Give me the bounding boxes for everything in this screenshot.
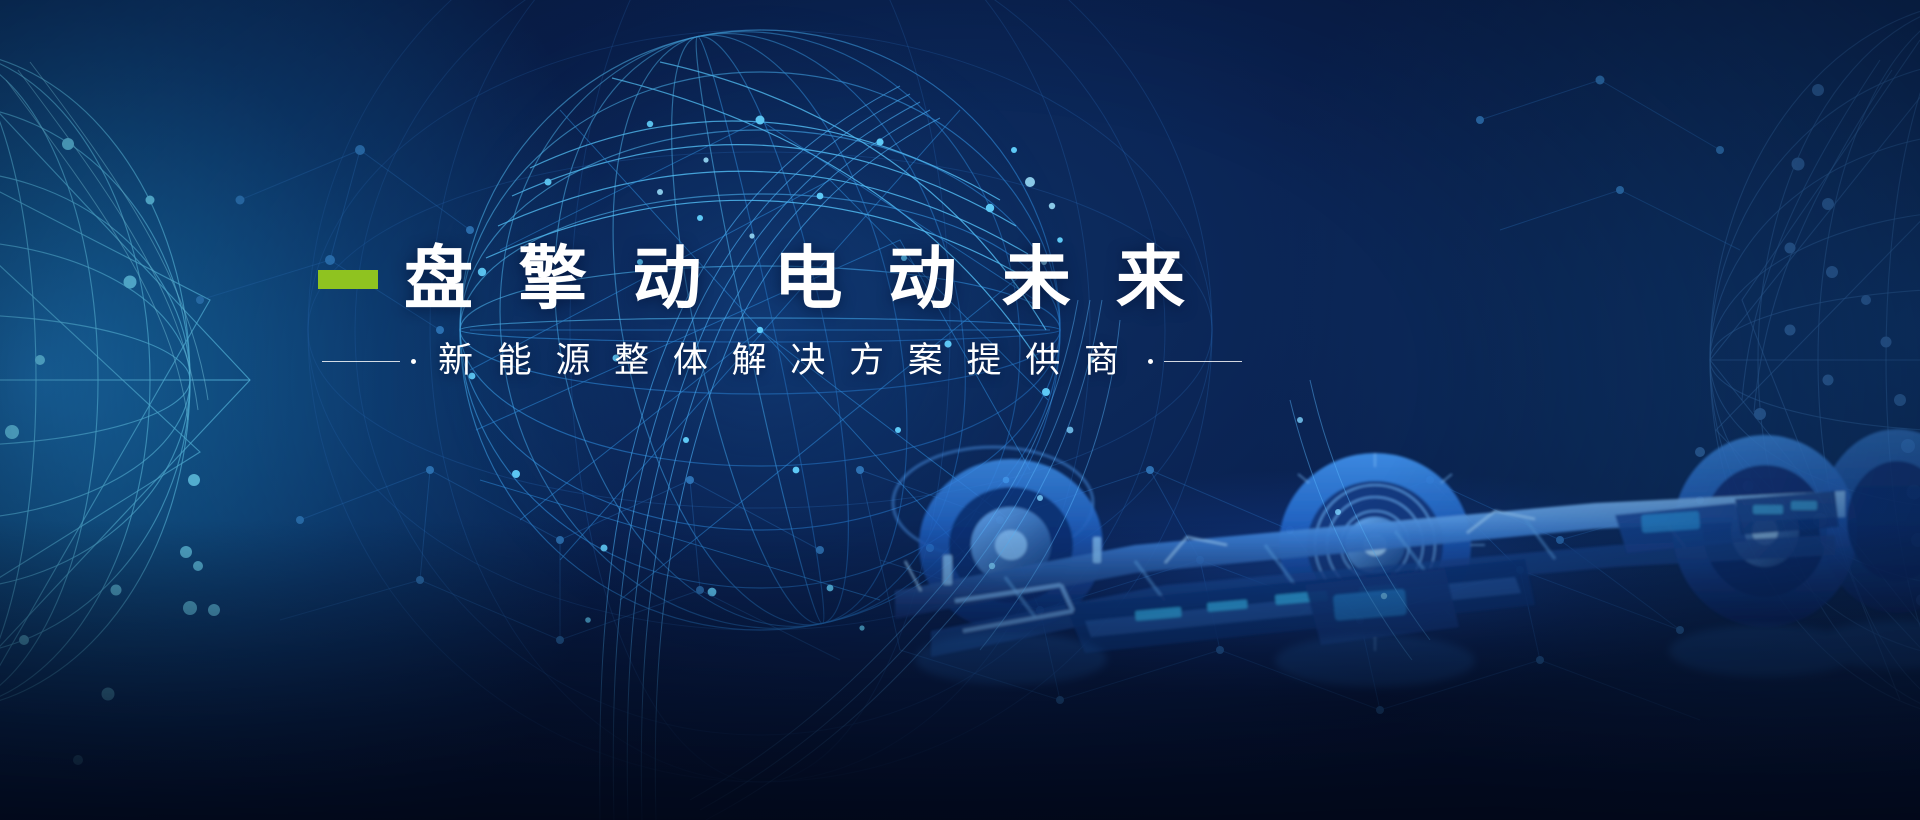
green-dash-accent-icon [318,270,378,289]
subtitle-right-dot-icon [1148,359,1153,364]
background-gradient [0,0,1920,820]
page-title: 盘 擎 动 电 动 未 来 [318,236,1198,322]
subtitle-row: 新 能 源 整 体 解 决 方 案 提 供 商 [322,338,1198,384]
hero-banner: 盘 擎 动 电 动 未 来 新 能 源 整 体 解 决 方 案 提 供 商 [0,0,1920,820]
page-subtitle: 新 能 源 整 体 解 决 方 案 提 供 商 [438,338,1126,384]
subtitle-right-rule-icon [1164,361,1242,362]
subtitle-left-rule-icon [322,361,400,362]
headline-segment-two: 电 动 未 来 [773,236,1198,322]
hero-copy: 盘 擎 动 电 动 未 来 新 能 源 整 体 解 决 方 案 提 供 商 [318,236,1198,384]
subtitle-left-dot-icon [411,359,416,364]
headline-segment-one: 盘 擎 动 [404,236,714,322]
